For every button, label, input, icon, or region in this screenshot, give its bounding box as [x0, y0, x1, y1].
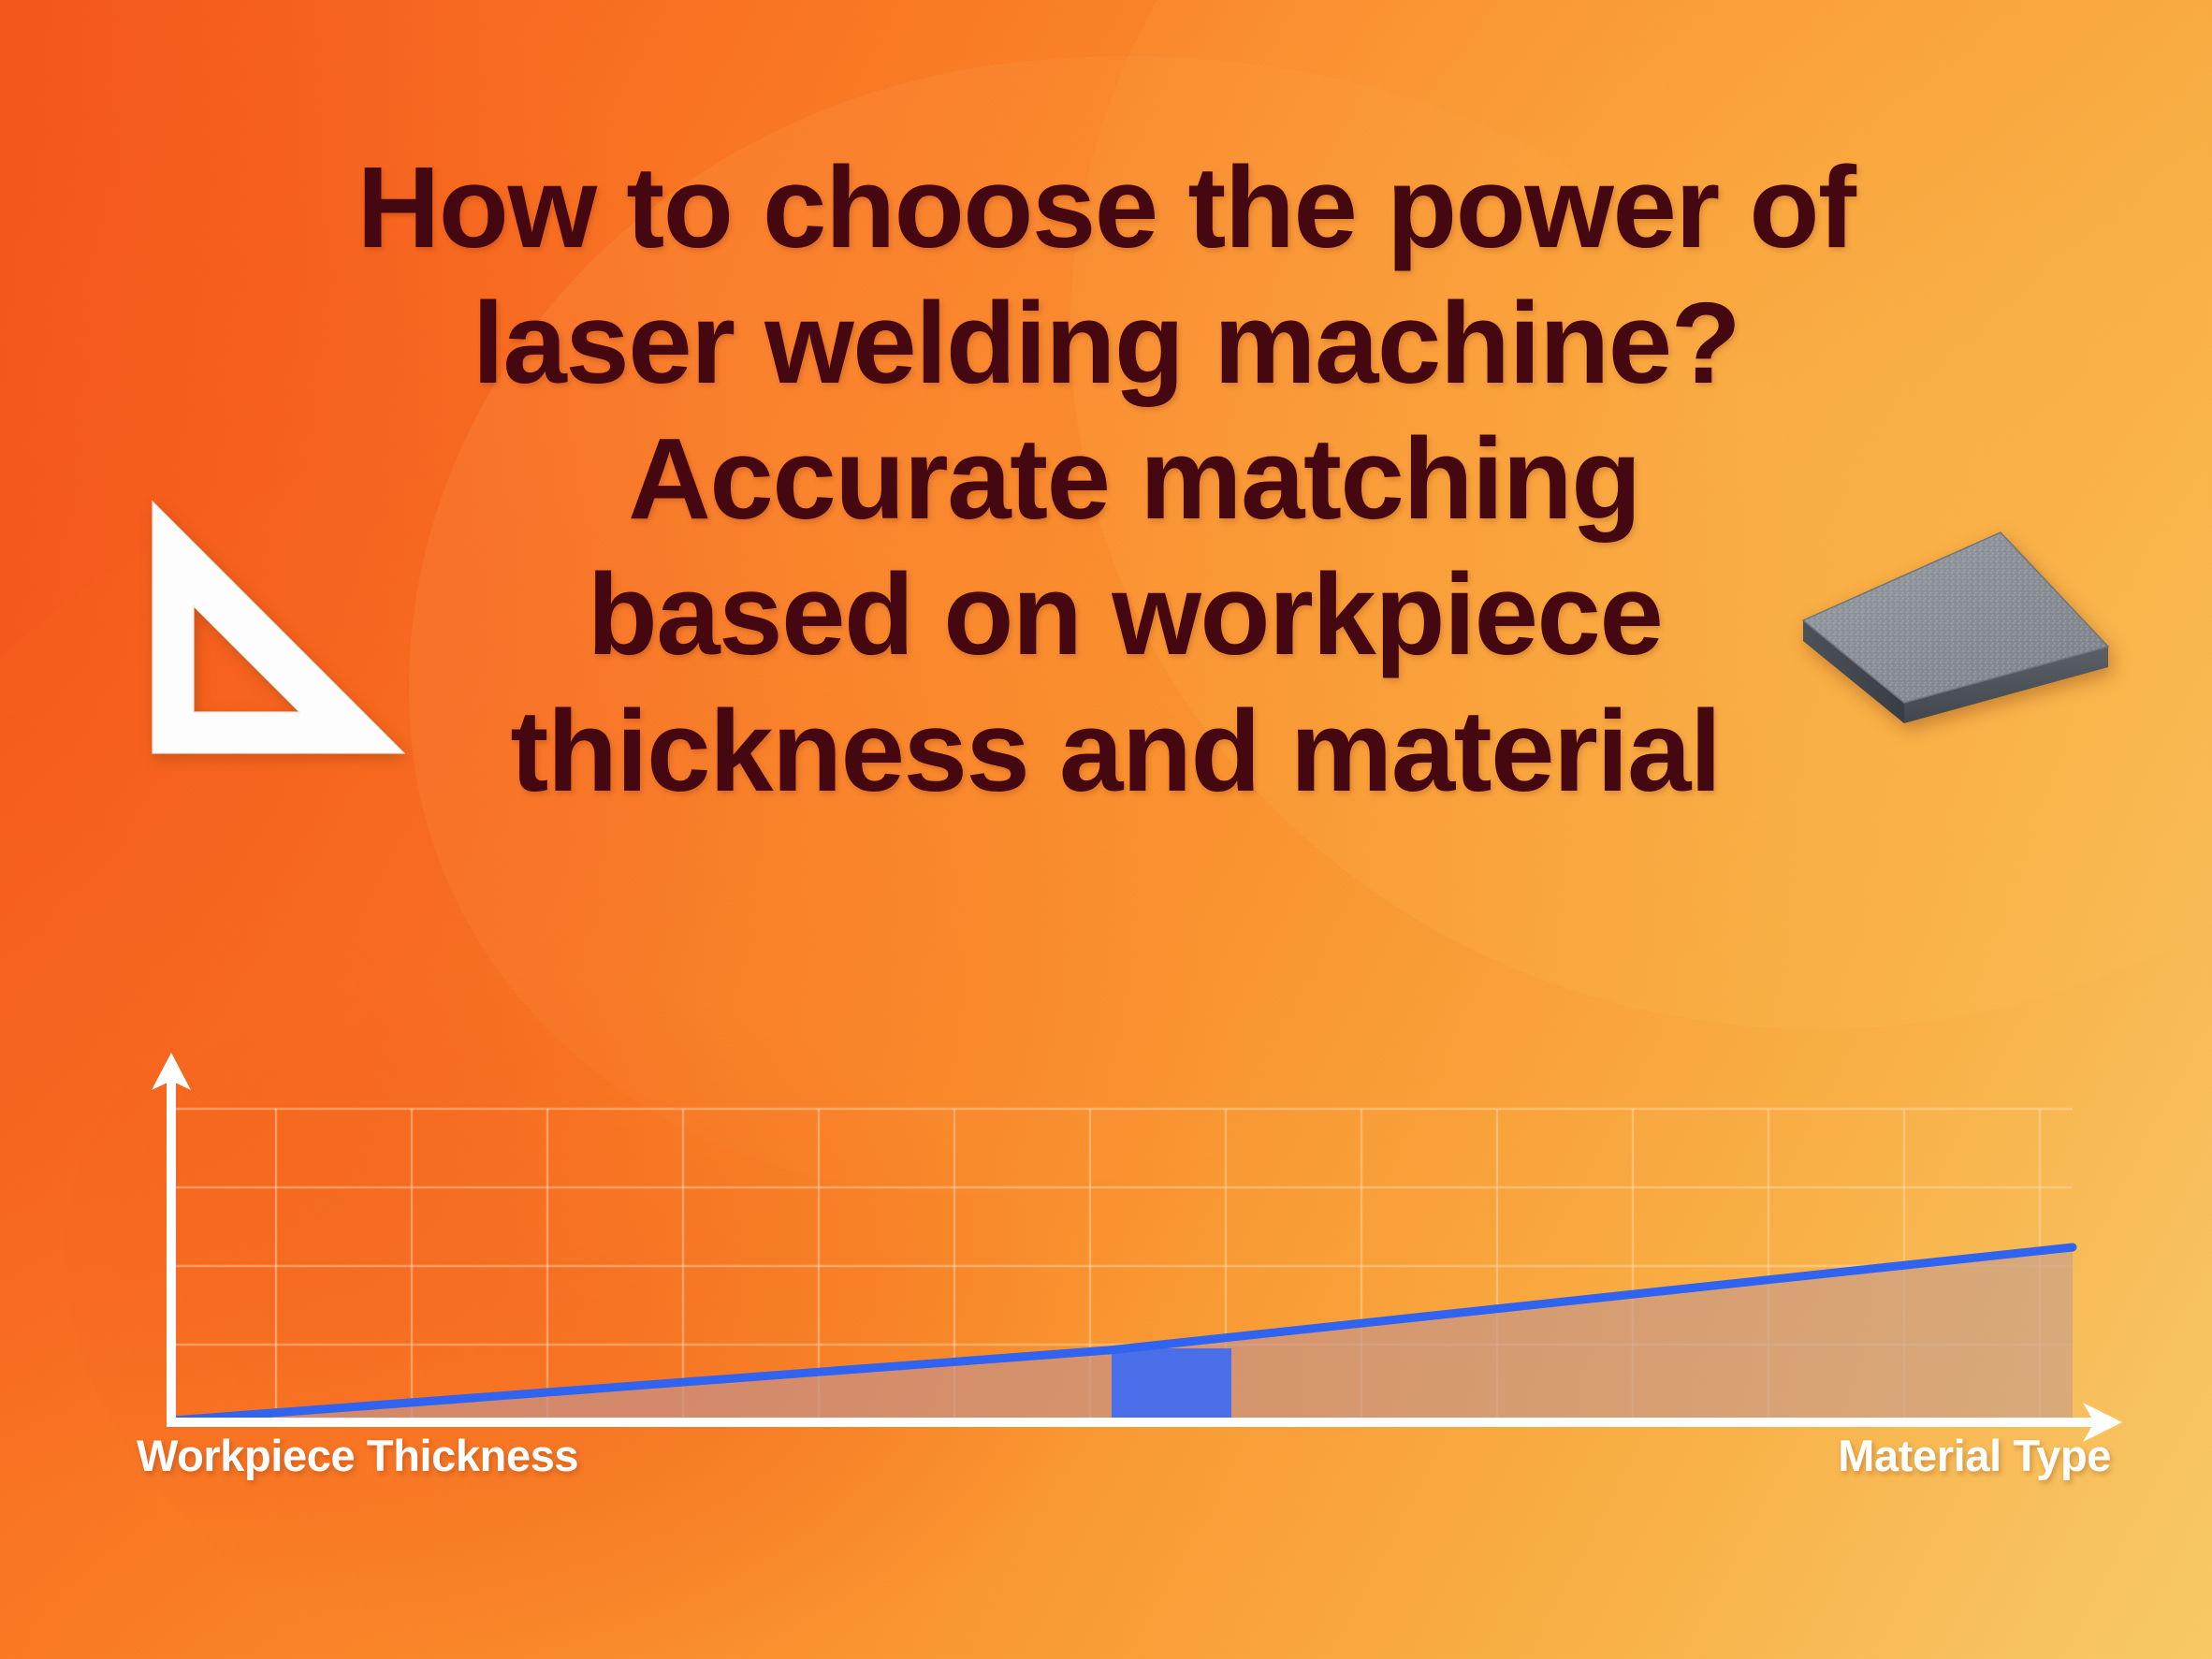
title-line-1: How to choose the power of [0, 140, 2212, 276]
metal-workpiece-plate-icon [1783, 510, 2129, 744]
x-axis-label-left: Workpiece Thickness [137, 1430, 578, 1481]
x-axis-label-right: Material Type [1838, 1430, 2111, 1481]
chart-highlight-bar [1112, 1348, 1231, 1420]
title-line-2: laser welding machine? [0, 276, 2212, 412]
poster-canvas: How to choose the power of laser welding… [0, 0, 2212, 1659]
power-vs-thickness-chart [140, 1053, 2124, 1446]
set-square-ruler-icon [145, 494, 412, 761]
